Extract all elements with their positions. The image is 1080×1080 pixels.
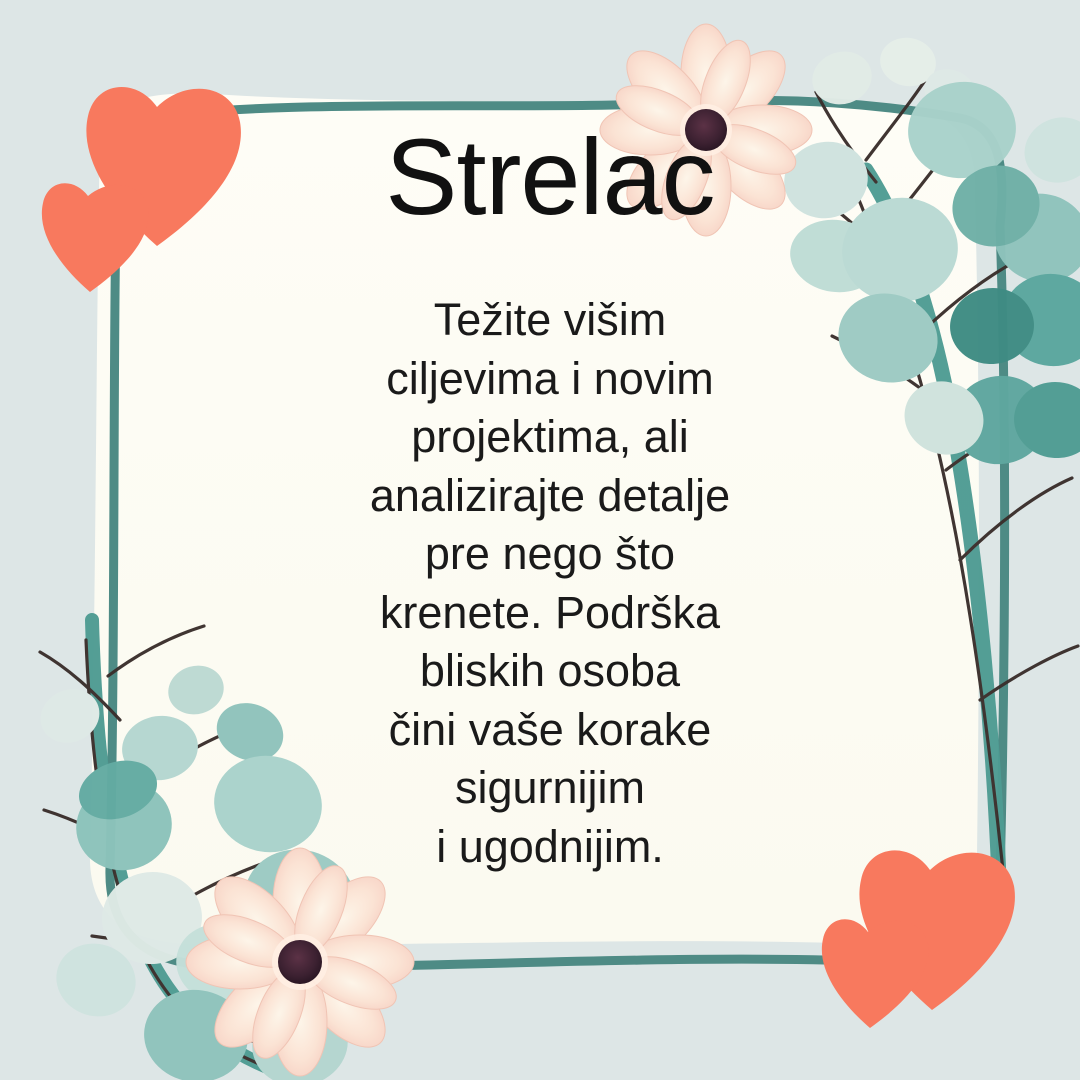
horoscope-card: Strelac Težite višim ciljevima i novim p… bbox=[0, 0, 1080, 1080]
horoscope-body-text: Težite višim ciljevima i novim projektim… bbox=[300, 291, 800, 876]
flower-center bbox=[278, 940, 322, 984]
card-text-block: Strelac Težite višim ciljevima i novim p… bbox=[300, 120, 800, 876]
page-title: Strelac bbox=[300, 120, 800, 233]
